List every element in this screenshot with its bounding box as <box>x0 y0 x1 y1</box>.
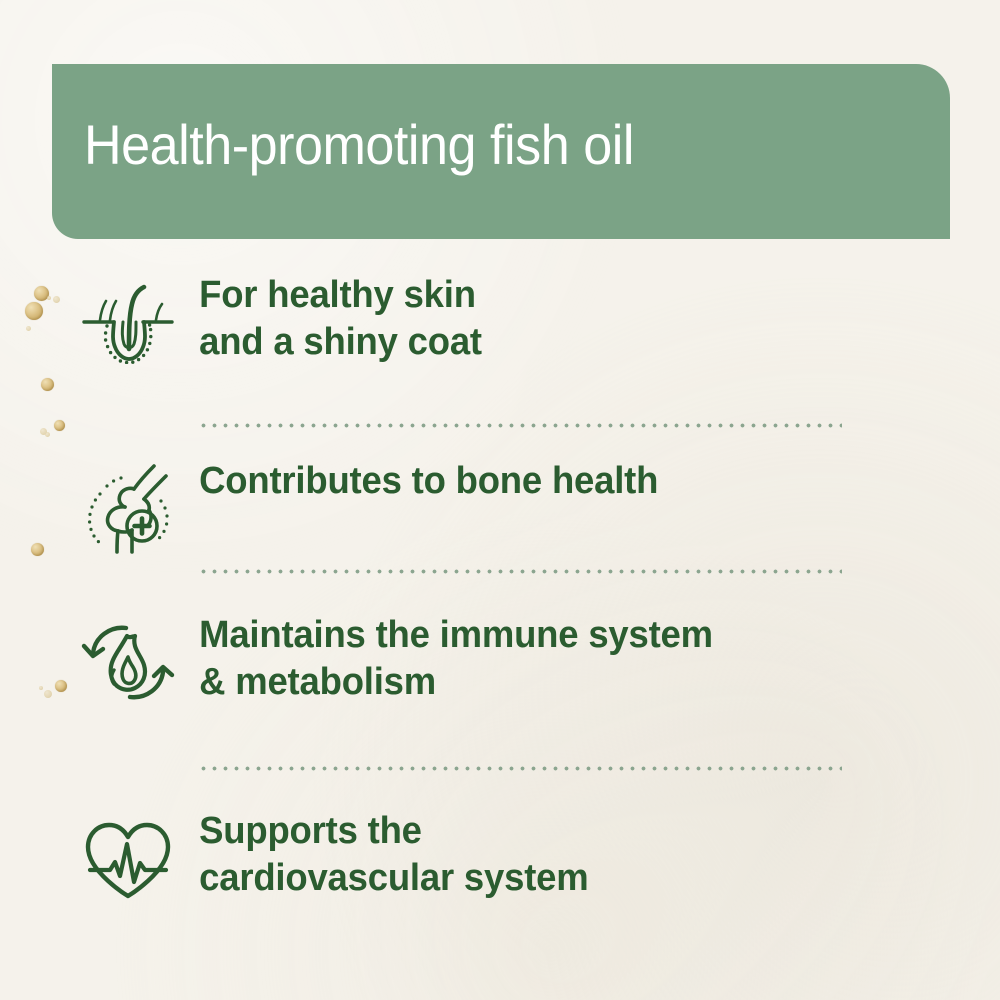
bone-joint-plus-icon <box>78 458 178 556</box>
benefit-label: Contributes to bone health <box>178 458 658 505</box>
header-banner: Health-promoting fish oil <box>52 64 950 239</box>
oil-droplet <box>45 432 50 437</box>
benefit-label: Maintains the immune system & metabolism <box>178 612 713 706</box>
hair-follicle-icon <box>78 272 178 364</box>
oil-droplet <box>53 296 60 303</box>
row-divider <box>198 569 842 574</box>
oil-droplet <box>39 686 43 690</box>
oil-droplet <box>47 296 51 300</box>
row-divider <box>198 766 842 771</box>
benefit-row: Supports the cardiovascular system <box>78 808 938 902</box>
benefit-row: Maintains the immune system & metabolism <box>78 612 938 706</box>
page-title: Health-promoting fish oil <box>84 114 634 176</box>
oil-droplet <box>44 690 52 698</box>
heart-pulse-icon <box>78 808 178 902</box>
flame-recycle-icon <box>78 612 178 706</box>
oil-droplet <box>31 543 44 556</box>
oil-droplet <box>26 326 31 331</box>
oil-droplet <box>25 302 43 320</box>
benefit-label: Supports the cardiovascular system <box>178 808 589 902</box>
oil-droplet <box>55 680 67 692</box>
benefit-row: For healthy skin and a shiny coat <box>78 272 938 366</box>
row-divider <box>198 423 842 428</box>
oil-droplet <box>54 420 65 431</box>
infographic-page: Health-promoting fish oil <box>0 0 1000 1000</box>
benefit-label: For healthy skin and a shiny coat <box>178 272 482 366</box>
oil-droplet <box>41 378 54 391</box>
benefit-row: Contributes to bone health <box>78 458 938 556</box>
